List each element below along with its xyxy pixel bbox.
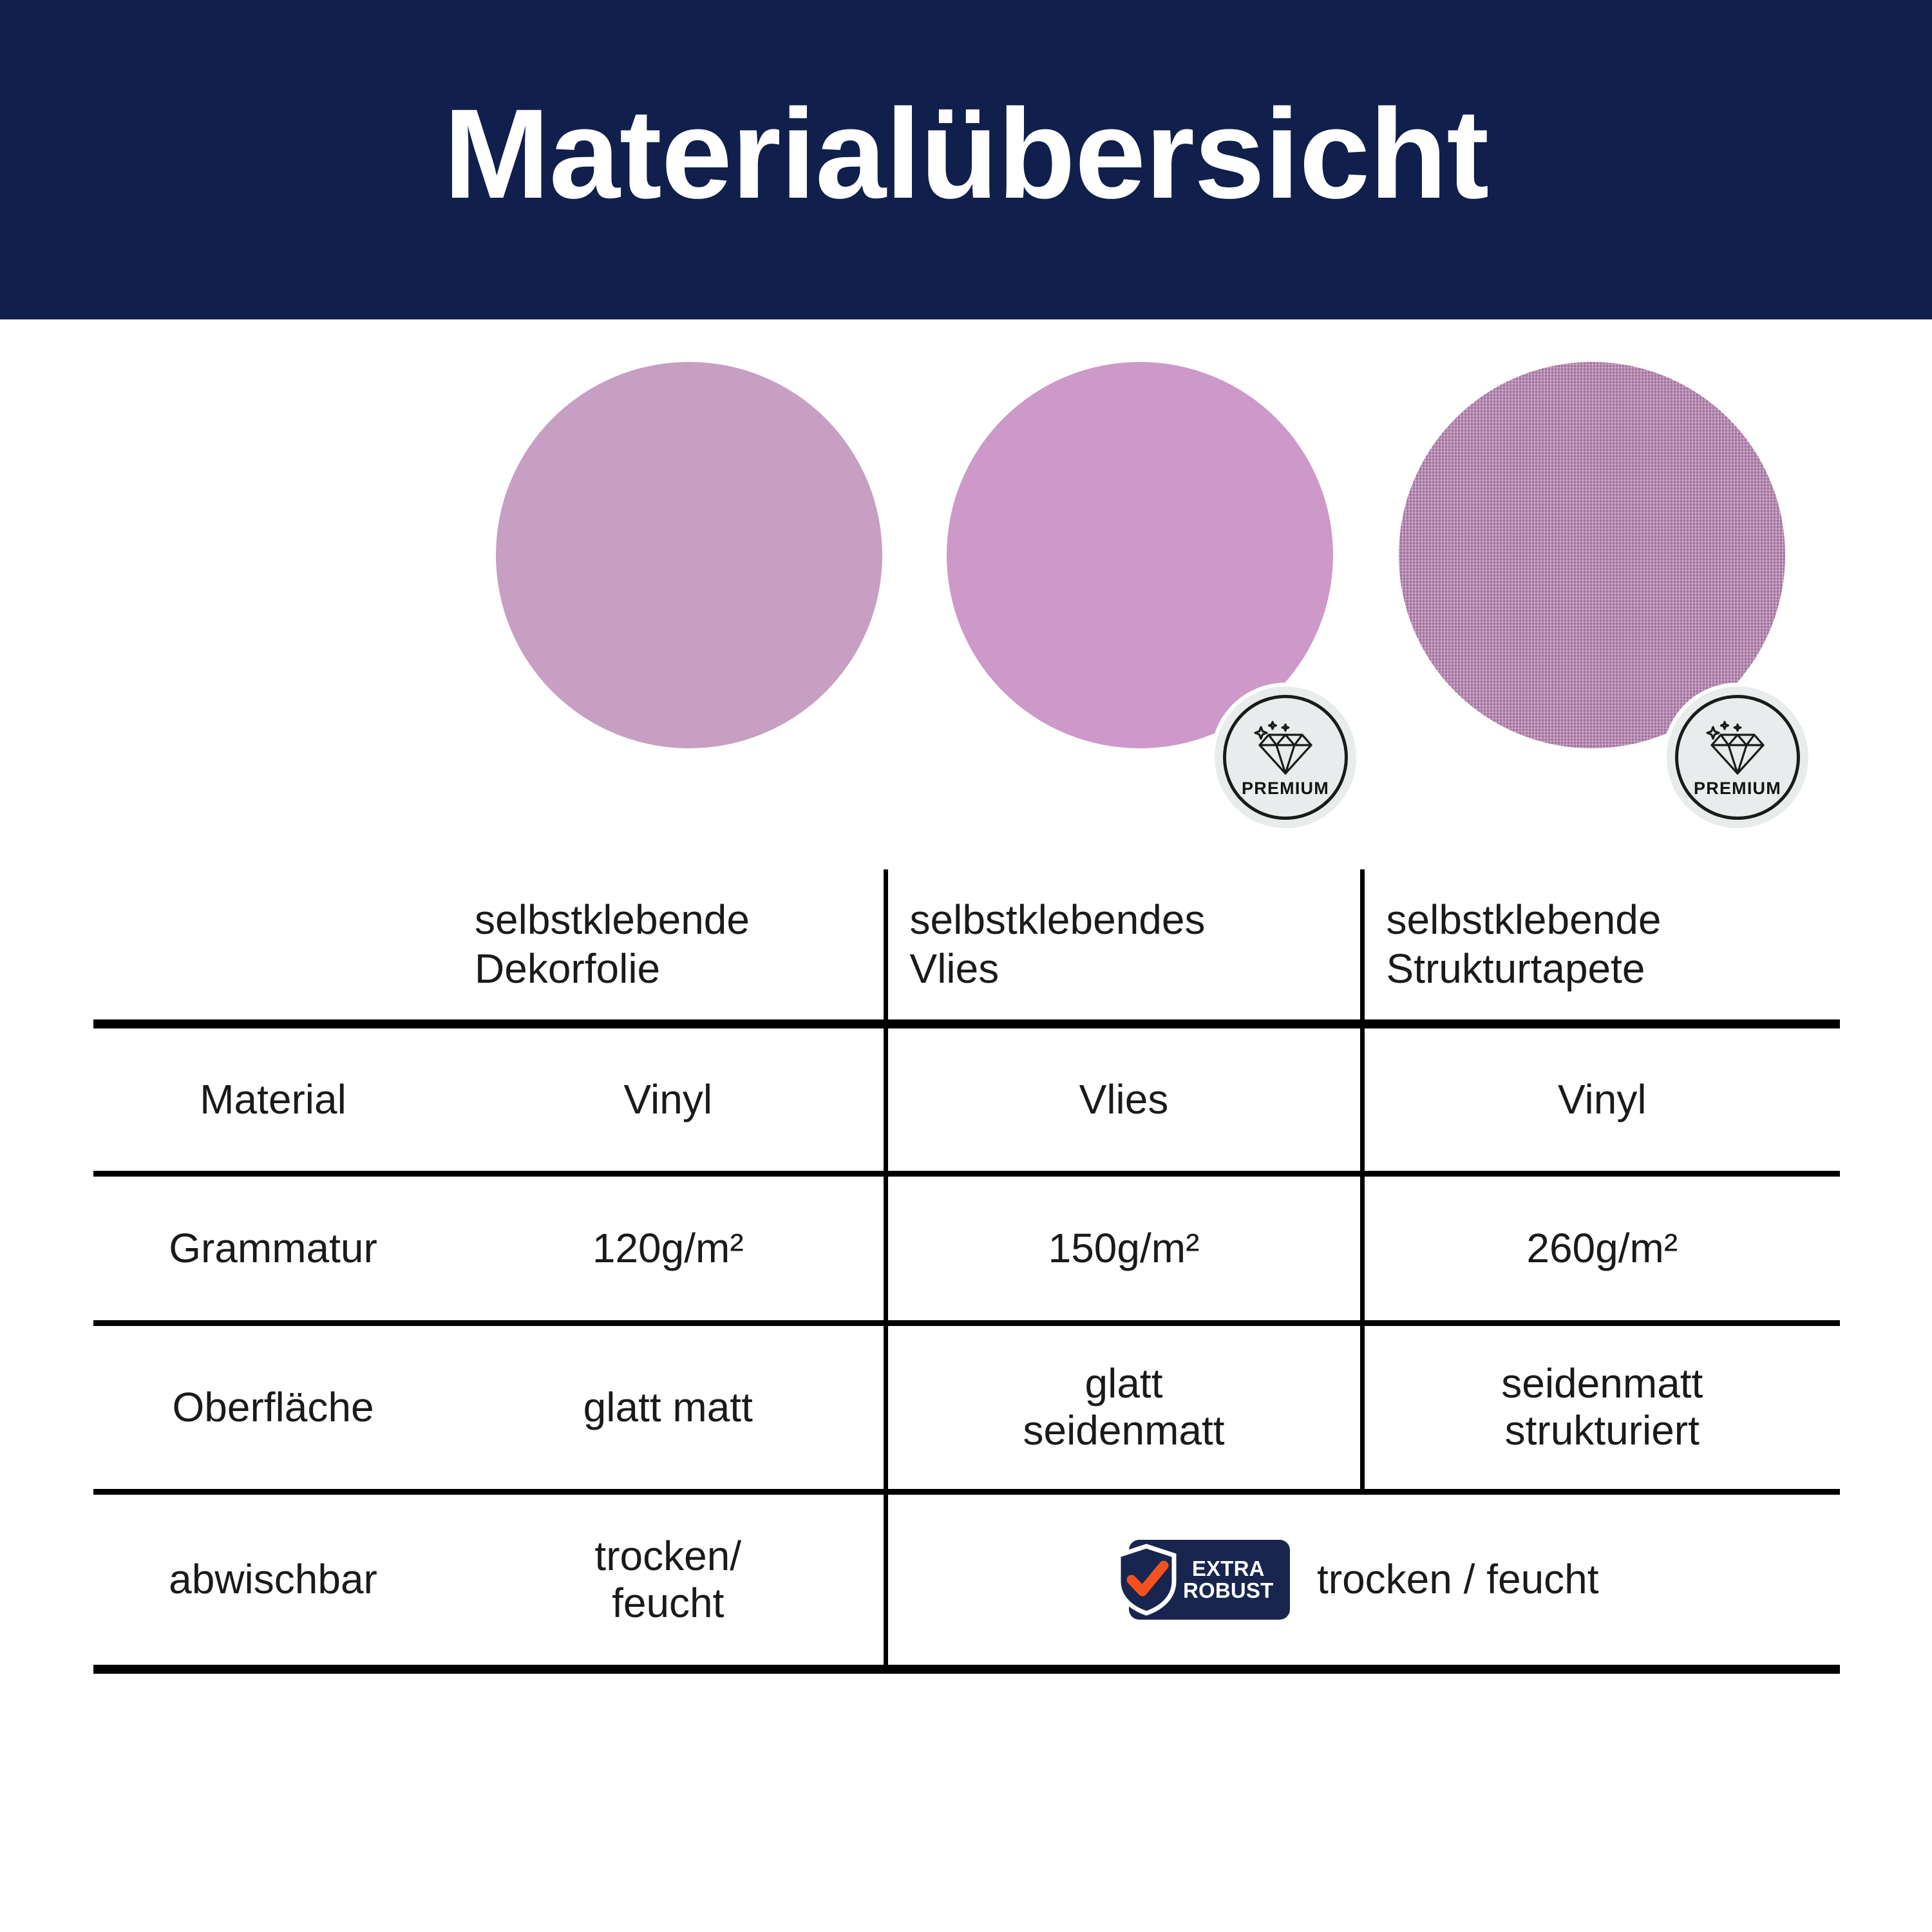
page-title: Materialübersicht xyxy=(0,0,1932,319)
header-dekorfolie-line1: selbstklebende xyxy=(475,896,872,945)
row-label-grammatur: Grammatur xyxy=(93,1173,453,1323)
cell-oberflaeche-dekorfolie: glatt matt xyxy=(453,1323,885,1492)
table-row: Oberfläche glatt matt glatt seidenmatt s… xyxy=(93,1323,1840,1492)
header-vlies: selbstklebendes Vlies xyxy=(885,869,1362,1024)
cell-oberflaeche-vlies: glatt seidenmatt xyxy=(885,1323,1362,1492)
robust-label-line1: EXTRA xyxy=(1183,1558,1274,1580)
material-overview-page: Materialübersicht xyxy=(0,0,1932,1932)
table-row: Material Vinyl Vlies Vinyl xyxy=(93,1024,1840,1173)
extra-robust-badge: EXTRA ROBUST xyxy=(1129,1540,1290,1620)
material-comparison-table: selbstklebende Dekorfolie selbstklebende… xyxy=(93,869,1840,1816)
cell-abwischbar-dekorfolie: trocken/ feucht xyxy=(453,1492,885,1669)
row-label-oberflaeche: Oberfläche xyxy=(93,1323,453,1492)
shield-check-icon xyxy=(1115,1544,1178,1616)
swatch-row: PREMIUM PRE xyxy=(0,319,1932,809)
header-dekorfolie-line2: Dekorfolie xyxy=(475,945,872,994)
cell-oberflaeche-vlies-line2: seidenmatt xyxy=(900,1407,1349,1454)
robust-label-line2: ROBUST xyxy=(1183,1580,1274,1602)
header-strukturtapete-line2: Strukturtapete xyxy=(1387,945,1829,994)
row-label-abwischbar: abwischbar xyxy=(93,1492,453,1669)
cell-abwischbar-dekorfolie-line2: feucht xyxy=(464,1580,872,1627)
header-strukturtapete-line1: selbstklebende xyxy=(1387,896,1829,945)
table-header-row: selbstklebende Dekorfolie selbstklebende… xyxy=(93,869,1840,1024)
premium-badge-vlies: PREMIUM xyxy=(1215,687,1356,828)
cell-abwischbar-merged: EXTRA ROBUST trocken / feucht xyxy=(885,1492,1840,1669)
cell-oberflaeche-strukturtapete-line2: strukturiert xyxy=(1376,1407,1829,1454)
cell-oberflaeche-strukturtapete-line1: seidenmatt xyxy=(1376,1360,1829,1407)
header-strukturtapete: selbstklebende Strukturtapete xyxy=(1362,869,1840,1024)
header-band: Materialübersicht xyxy=(0,0,1932,319)
cell-abwischbar-dekorfolie-line1: trocken/ xyxy=(464,1533,872,1580)
header-vlies-line2: Vlies xyxy=(910,945,1349,994)
diamond-icon xyxy=(1701,718,1774,777)
diamond-icon xyxy=(1249,718,1321,777)
premium-badge-label: PREMIUM xyxy=(1242,780,1329,797)
table-row: abwischbar trocken/ feucht xyxy=(93,1492,1840,1669)
swatch-dekorfolie xyxy=(496,362,882,748)
cell-oberflaeche-strukturtapete: seidenmatt strukturiert xyxy=(1362,1323,1840,1492)
cell-oberflaeche-vlies-line1: glatt xyxy=(900,1360,1349,1407)
cell-material-dekorfolie: Vinyl xyxy=(453,1024,885,1173)
header-empty-cell xyxy=(93,869,453,1024)
premium-badge-label: PREMIUM xyxy=(1694,780,1781,797)
cell-grammatur-strukturtapete: 260g/m² xyxy=(1362,1173,1840,1323)
cell-abwischbar-merged-text: trocken / feucht xyxy=(1317,1556,1599,1603)
header-dekorfolie: selbstklebende Dekorfolie xyxy=(453,869,885,1024)
cell-grammatur-vlies: 150g/m² xyxy=(885,1173,1362,1323)
table-row: Grammatur 120g/m² 150g/m² 260g/m² xyxy=(93,1173,1840,1323)
cell-oberflaeche-dekorfolie-text: glatt matt xyxy=(583,1384,753,1430)
cell-grammatur-dekorfolie: 120g/m² xyxy=(453,1173,885,1323)
row-label-material: Material xyxy=(93,1024,453,1173)
header-vlies-line1: selbstklebendes xyxy=(910,896,1349,945)
premium-badge-strukturtapete: PREMIUM xyxy=(1667,687,1808,828)
cell-material-strukturtapete: Vinyl xyxy=(1362,1024,1840,1173)
cell-material-vlies: Vlies xyxy=(885,1024,1362,1173)
